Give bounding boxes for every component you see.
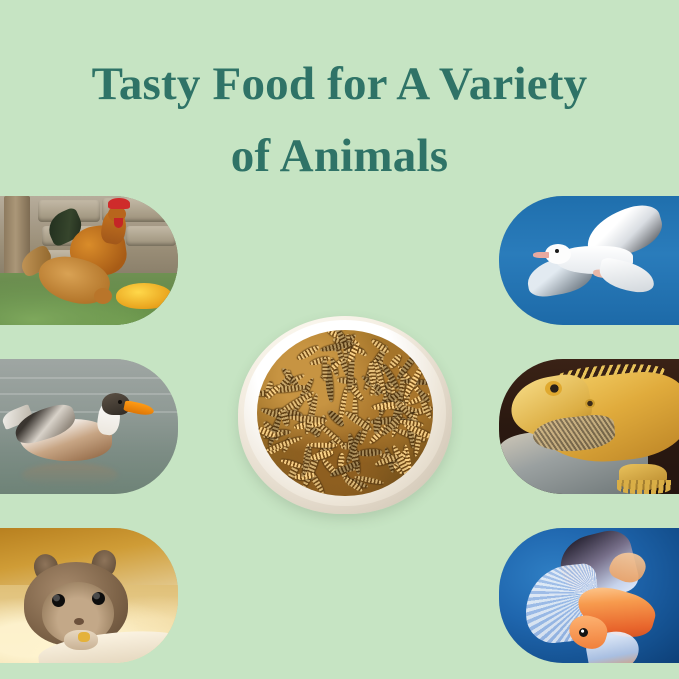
photo-tile-hamster [0, 528, 178, 663]
bottom-margin [0, 663, 679, 679]
water-ripple [0, 377, 178, 379]
photo-tile-betta-fish [499, 528, 679, 663]
photo-tile-seagulls [499, 196, 679, 325]
hamster-eye-right [92, 592, 105, 605]
duck-eye [118, 400, 122, 404]
fish-scene [499, 528, 679, 663]
fish-eye [579, 628, 588, 637]
duck-bill [123, 400, 155, 417]
mealworm [307, 442, 337, 447]
hamster-scene [0, 528, 178, 663]
photo-tile-chickens [0, 196, 178, 325]
title-line-2: of Animals [0, 120, 679, 192]
mealworm-pile [257, 330, 432, 496]
infographic-canvas: Tasty Food for A Variety of Animals [0, 0, 679, 679]
duck-scene [0, 359, 178, 494]
water-ripple [0, 393, 178, 395]
lizard-eye [545, 381, 562, 396]
rooster-comb [108, 198, 130, 209]
food-piece [78, 632, 90, 642]
lizard-eye-far [585, 399, 595, 408]
seagull-scene [499, 196, 679, 325]
seagull-lower-wing [597, 256, 658, 295]
duck-reflection [22, 463, 118, 487]
lizard-scene [499, 359, 679, 494]
chicken-scene [0, 196, 178, 325]
rooster-wattle [114, 218, 123, 228]
page-title: Tasty Food for A Variety of Animals [0, 48, 679, 192]
lizard-toes [617, 480, 671, 494]
hamster-nose [74, 618, 84, 625]
photo-tile-bearded-dragon [499, 359, 679, 494]
seagull-eye [555, 249, 559, 253]
hamster-eye-left [52, 594, 65, 607]
title-line-1: Tasty Food for A Variety [0, 48, 679, 120]
hen-head [94, 288, 112, 304]
wall-stone [126, 226, 176, 246]
seagull-beak [533, 252, 549, 258]
mealworm [357, 449, 381, 457]
mealworm-bowl [238, 316, 452, 514]
feed-dish [116, 283, 172, 309]
photo-tile-duck [0, 359, 178, 494]
